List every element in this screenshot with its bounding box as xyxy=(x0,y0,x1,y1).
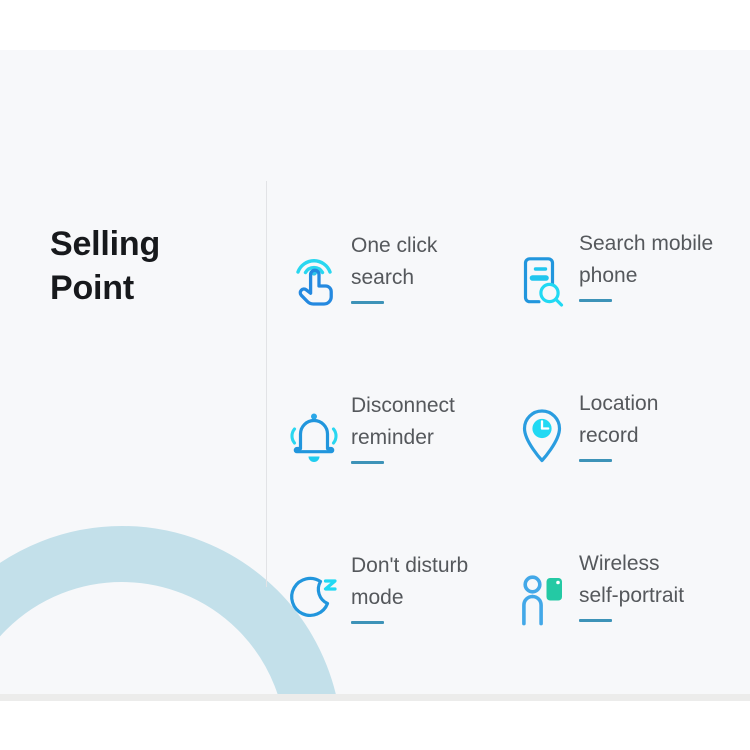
feature-item-dont-disturb-mode[interactable]: Don't disturb mode xyxy=(285,548,513,694)
feature-text-block: Wireless self-portrait xyxy=(579,548,750,622)
feature-label: Search mobile phone xyxy=(579,228,750,292)
vertical-divider xyxy=(266,181,267,587)
feature-underline xyxy=(579,619,612,622)
moon-sleep-icon xyxy=(285,564,343,632)
feature-label: Location record xyxy=(579,388,750,452)
location-pin-clock-icon xyxy=(513,402,571,470)
feature-label: Disconnect reminder xyxy=(351,390,513,454)
ringing-bell-icon xyxy=(285,404,343,472)
feature-item-one-click-search[interactable]: One click search xyxy=(285,228,513,388)
feature-underline xyxy=(579,459,612,462)
feature-text-block: Search mobile phone xyxy=(579,228,750,302)
selling-point-infographic: Selling Point One click search xyxy=(0,0,750,750)
feature-list: One click search Search mobile pho xyxy=(285,228,750,694)
tap-hand-icon xyxy=(285,244,343,312)
panel-bottom-edge xyxy=(0,694,750,701)
feature-label: One click search xyxy=(351,230,513,294)
phone-search-icon xyxy=(513,248,571,316)
feature-underline xyxy=(351,301,384,304)
feature-underline xyxy=(351,621,384,624)
feature-text-block: Disconnect reminder xyxy=(351,388,513,464)
feature-item-location-record[interactable]: Location record xyxy=(513,388,750,548)
feature-underline xyxy=(579,299,612,302)
content-panel: Selling Point One click search xyxy=(0,50,750,694)
feature-item-wireless-self-portrait[interactable]: Wireless self-portrait xyxy=(513,548,750,694)
feature-text-block: Don't disturb mode xyxy=(351,548,513,624)
feature-text-block: Location record xyxy=(579,388,750,462)
page-title-line-2: Point xyxy=(50,266,250,310)
feature-item-disconnect-reminder[interactable]: Disconnect reminder xyxy=(285,388,513,548)
feature-underline xyxy=(351,461,384,464)
feature-item-search-mobile-phone[interactable]: Search mobile phone xyxy=(513,228,750,388)
feature-text-block: One click search xyxy=(351,228,513,304)
person-phone-icon xyxy=(513,566,571,634)
feature-label: Wireless self-portrait xyxy=(579,548,750,612)
page-title: Selling Point xyxy=(50,222,250,310)
page-title-line-1: Selling xyxy=(50,222,250,266)
feature-label: Don't disturb mode xyxy=(351,550,513,614)
